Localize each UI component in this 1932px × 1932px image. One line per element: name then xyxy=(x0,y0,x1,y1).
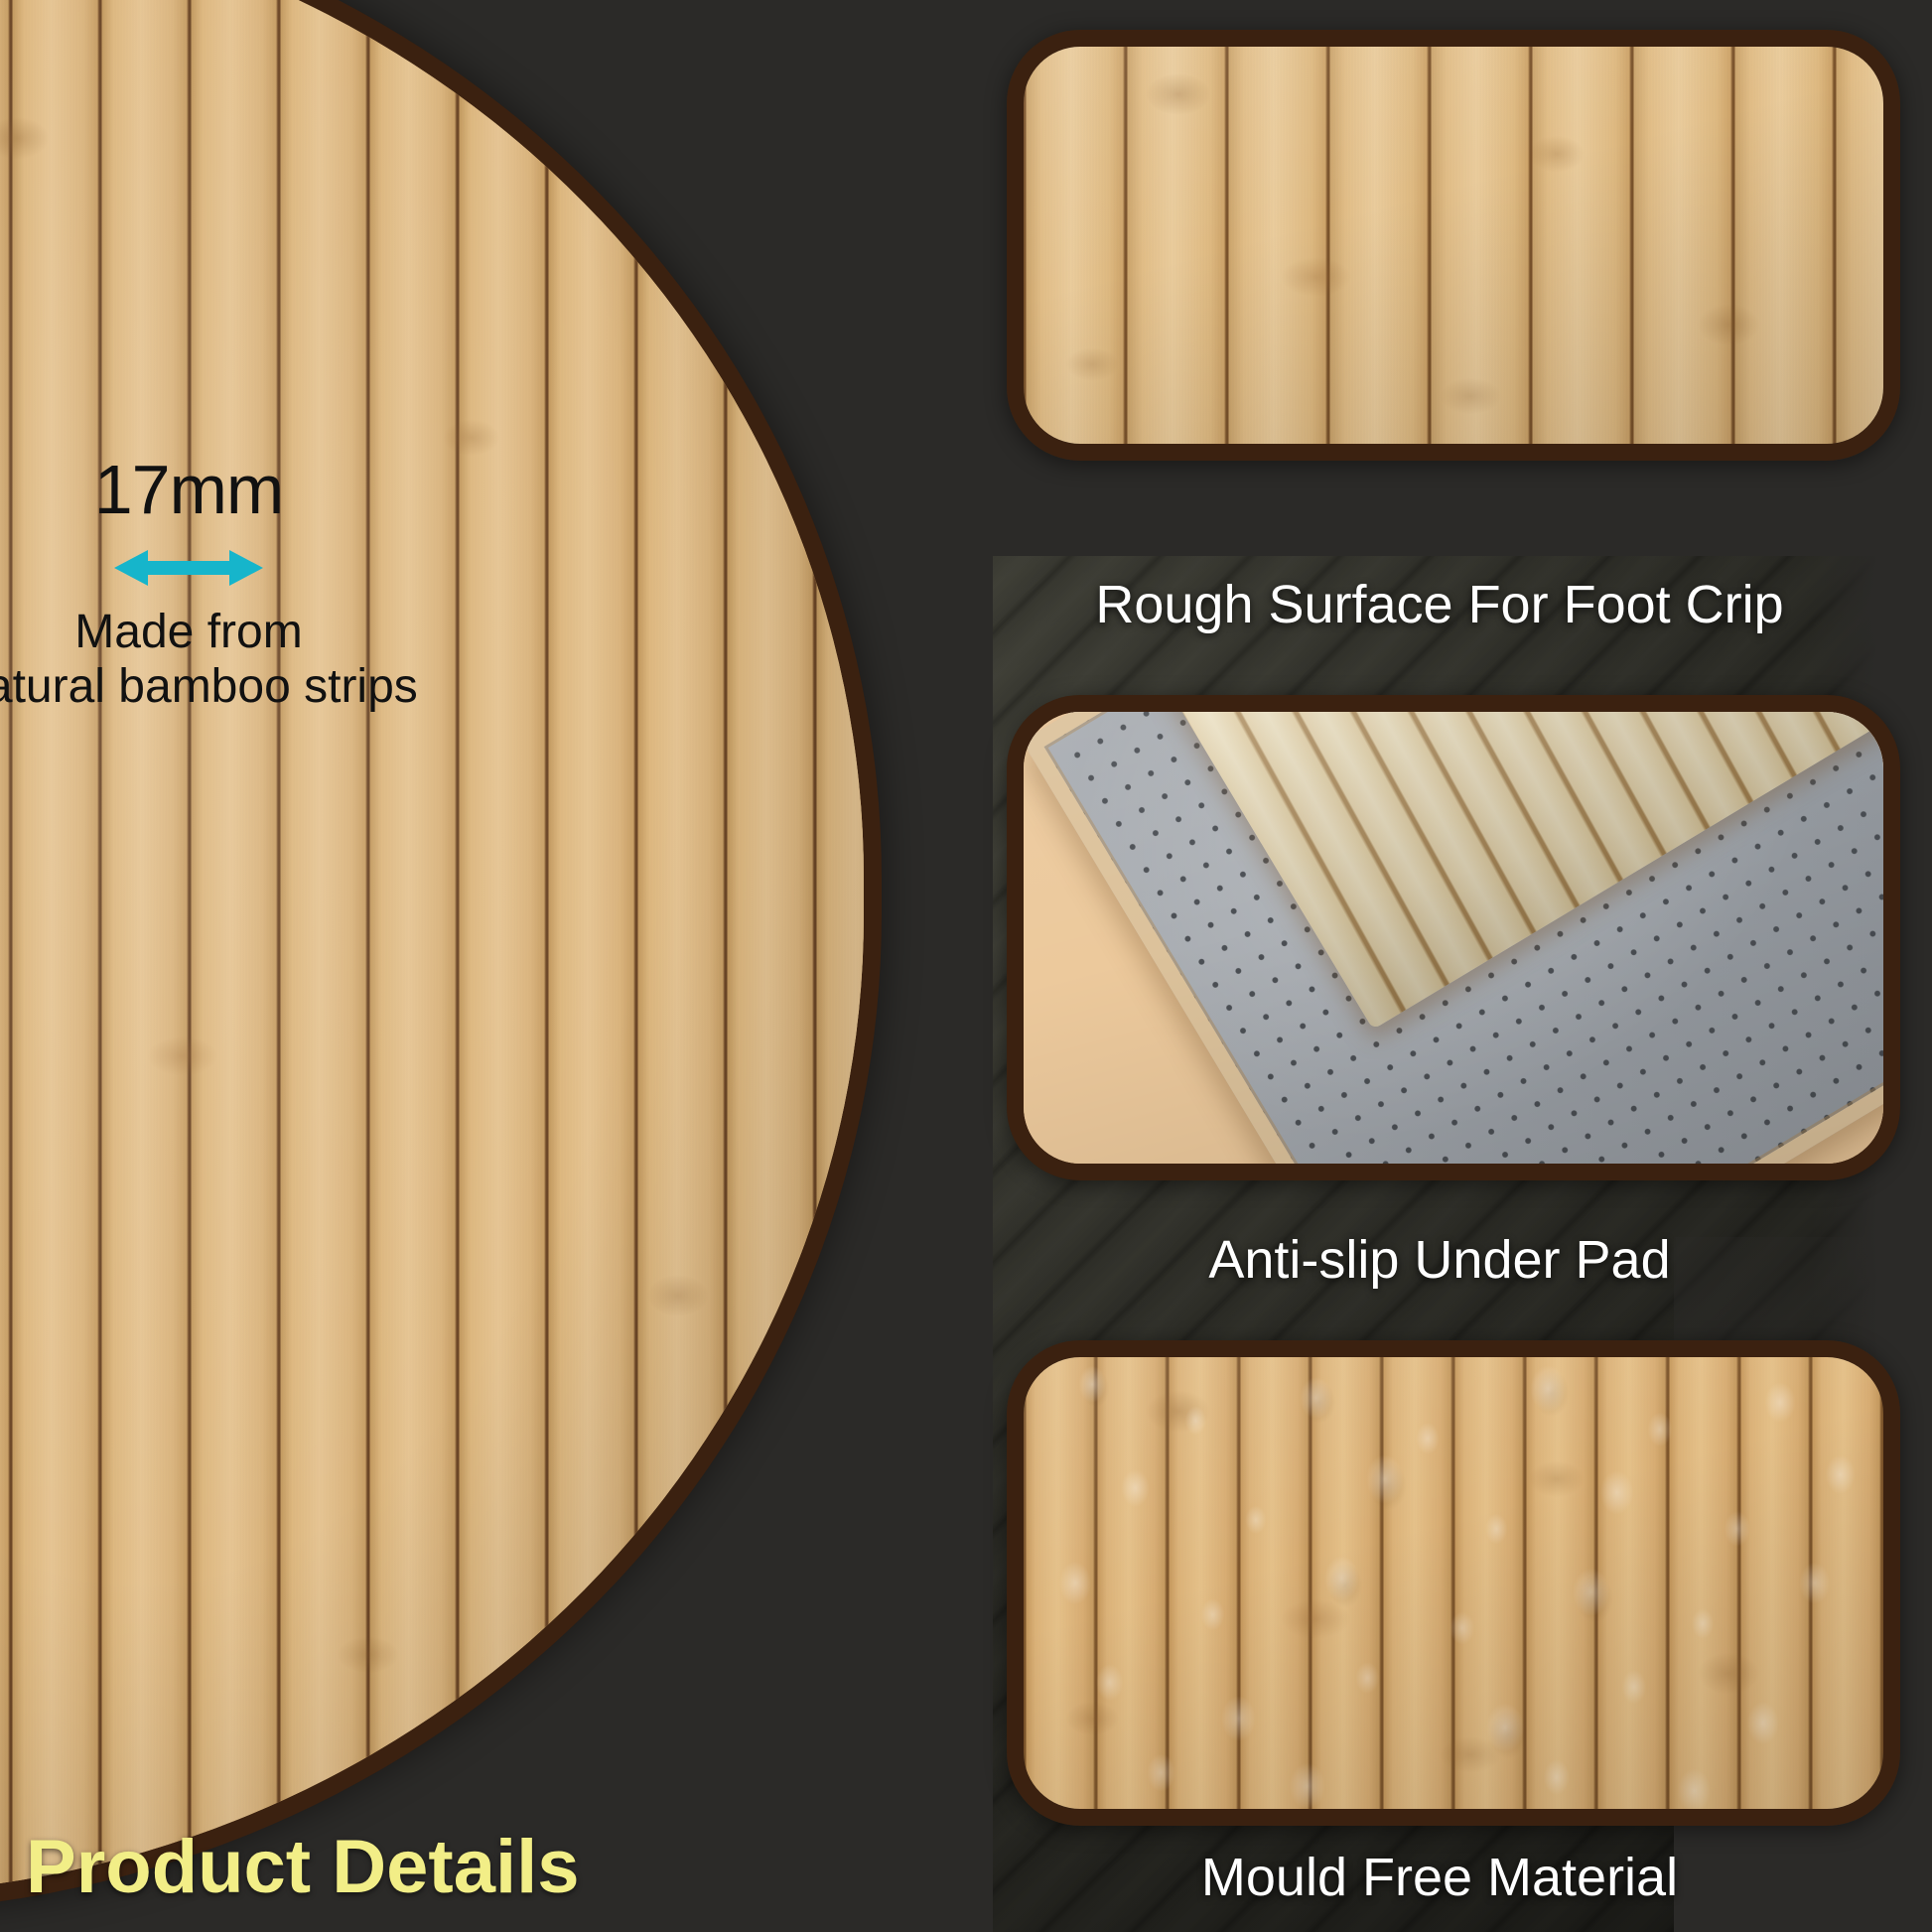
rough-surface-shading xyxy=(1024,47,1883,444)
bamboo-closeup-image xyxy=(0,0,864,1894)
bamboo-closeup-shading xyxy=(0,0,864,1894)
anti-slip-pad-shading xyxy=(1024,712,1883,1164)
thickness-description-line-1: Made from xyxy=(0,606,467,660)
mould-free-shading xyxy=(1024,1357,1883,1809)
bamboo-closeup-circle: 17mm Made from natural bamboo strips xyxy=(0,0,882,1912)
feature-card-mould-free xyxy=(1007,1340,1900,1826)
feature-caption-mould-free: Mould Free Material xyxy=(973,1847,1906,1908)
thickness-annotation: 17mm Made from natural bamboo strips xyxy=(0,455,467,714)
product-details-infographic: 17mm Made from natural bamboo strips Pro… xyxy=(0,0,1932,1932)
feature-caption-anti-slip-pad: Anti-slip Under Pad xyxy=(973,1229,1906,1291)
feature-card-rough-surface xyxy=(1007,30,1900,461)
thickness-value: 17mm xyxy=(0,455,467,524)
thickness-arrow-row xyxy=(0,546,467,590)
feature-caption-rough-surface: Rough Surface For Foot Crip xyxy=(973,574,1906,635)
thickness-description-line-2: natural bamboo strips xyxy=(0,660,467,715)
page-title: Product Details xyxy=(26,1824,579,1910)
double-arrow-icon xyxy=(114,546,263,590)
feature-card-anti-slip-pad xyxy=(1007,695,1900,1180)
thickness-description: Made from natural bamboo strips xyxy=(0,606,467,714)
